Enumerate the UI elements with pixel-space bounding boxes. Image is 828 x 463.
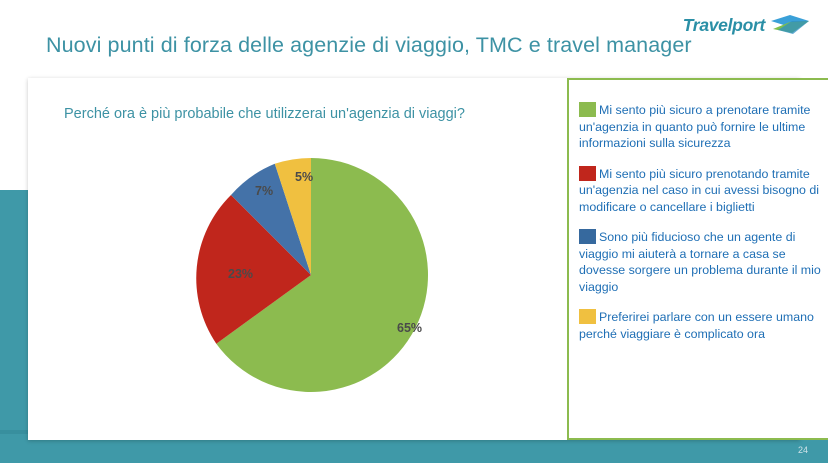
legend-item: Mi sento più sicuro prenotando tramite u… xyxy=(579,166,822,216)
legend-item: Mi sento più sicuro a prenotare tramite … xyxy=(579,102,822,152)
left-accent-band xyxy=(0,190,29,430)
pie-chart: 65% 23% 7% 5% xyxy=(28,133,568,433)
legend-item: Preferirei parlare con un essere umano p… xyxy=(579,309,822,342)
logo-wordmark: Travelport xyxy=(683,15,765,36)
travelport-diamond-icon xyxy=(770,14,810,36)
travelport-logo: Travelport xyxy=(683,10,810,40)
legend-swatch-green-icon xyxy=(579,102,596,117)
pie-graphic: 65% 23% 7% 5% xyxy=(191,155,431,395)
page-title: Nuovi punti di forza delle agenzie di vi… xyxy=(46,33,692,58)
legend-item-label: Preferirei parlare con un essere umano p… xyxy=(579,310,814,341)
pie-label-1: 65% xyxy=(397,321,422,335)
legend-item-label: Mi sento più sicuro prenotando tramite u… xyxy=(579,167,819,214)
slide-canvas: Nuovi punti di forza delle agenzie di vi… xyxy=(0,0,828,463)
legend-item: Sono più fiducioso che un agente di viag… xyxy=(579,229,822,295)
legend-swatch-red-icon xyxy=(579,166,596,181)
legend-swatch-blue-icon xyxy=(579,229,596,244)
chart-question: Perché ora è più probabile che utilizzer… xyxy=(64,106,465,122)
legend-item-label: Sono più fiducioso che un agente di viag… xyxy=(579,230,821,294)
pie-label-2: 23% xyxy=(228,267,253,281)
page-number: 24 xyxy=(798,445,808,455)
pie-label-4: 5% xyxy=(295,170,313,184)
legend-swatch-yellow-icon xyxy=(579,309,596,324)
pie-label-3: 7% xyxy=(255,184,273,198)
chart-legend: Mi sento più sicuro a prenotare tramite … xyxy=(567,78,828,440)
legend-item-label: Mi sento più sicuro a prenotare tramite … xyxy=(579,103,810,150)
pie-svg xyxy=(191,155,431,395)
